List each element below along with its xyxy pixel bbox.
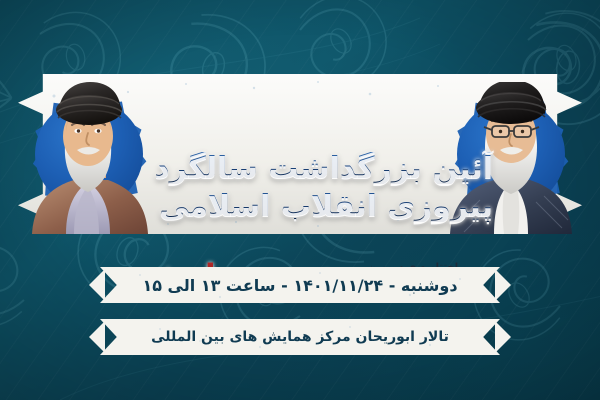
date-time-ribbon: دوشنبه - ۱۴۰۱/۱۱/۲۴ - ساعت ۱۳ الی ۱۵ <box>100 267 500 303</box>
date-time-text: دوشنبه - ۱۴۰۱/۱۱/۲۴ - ساعت ۱۳ الی ۱۵ <box>142 276 457 295</box>
venue-text: تالار ابوریحان مرکز همایش های بین المللی <box>151 329 449 345</box>
event-poster: آئین بزرگداشت سالگرد پیروزی انقلاب اسلام… <box>0 0 600 400</box>
imam-khomeini-portrait <box>14 74 164 234</box>
venue-ribbon: تالار ابوریحان مرکز همایش های بین المللی <box>100 319 500 355</box>
headline-line-2: پیروزی انقلاب اسلامی <box>143 184 493 222</box>
portrait-medallion-left <box>14 74 164 234</box>
main-title-banner: آئین بزرگداشت سالگرد پیروزی انقلاب اسلام… <box>18 74 582 234</box>
headline-line-1: آئین بزرگداشت سالگرد <box>143 152 493 184</box>
